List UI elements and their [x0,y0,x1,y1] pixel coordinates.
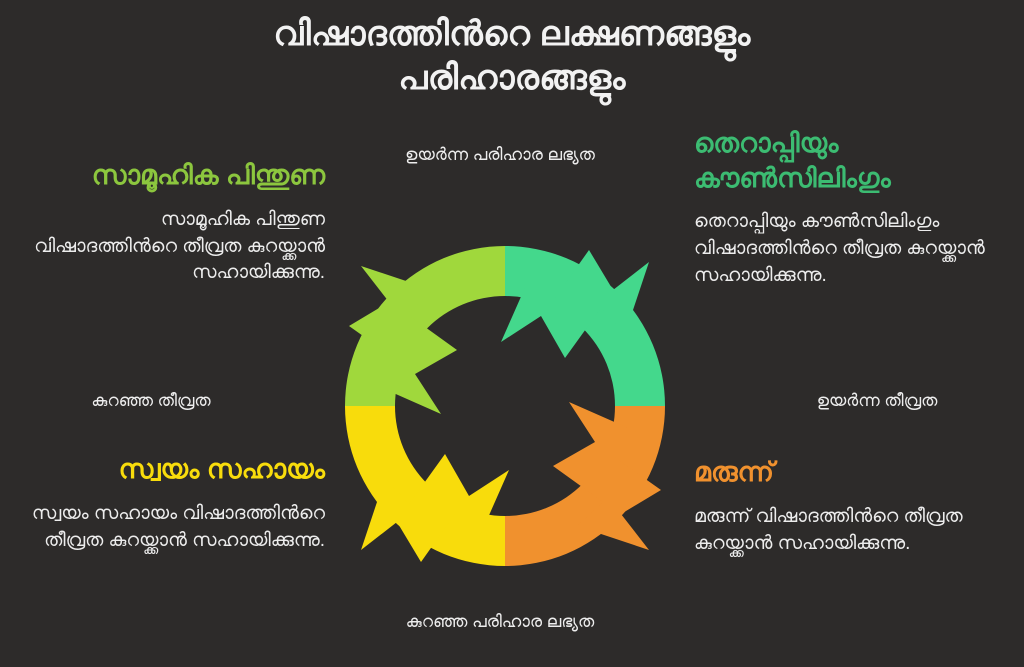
cycle-segment-community-support [345,246,505,414]
cycle-diagram-svg [337,238,673,574]
quadrant-community-support-heading: സാമൂഹിക പിന്തുണ [20,158,325,193]
axis-label-high-solution-availability: ഉയർന്ന പരിഹാര ലഭ്യത [372,143,628,168]
quadrant-community-support-body: സാമൂഹിക പിന്തുണ വിഷാദത്തിന്‍റെ തീവ്രത കു… [20,207,325,288]
quadrant-self-help: സ്വയം സഹായം സ്വയം സഹായം വിഷാദത്തിന്‍റെ ത… [20,452,325,554]
cycle-segment-therapy-counselling [501,246,665,406]
quadrant-therapy-counselling: തെറാപ്പിയും കൗൺസിലിംഗും തെറാപ്പിയും കൗൺസ… [694,126,1004,290]
axis-label-low-severity: കുറഞ്ഞ തീവ്രത [26,389,276,414]
quadrant-medication: മരുന്ന് മരുന്ന് വിഷാദത്തിന്‍റെ തീവ്രത കു… [694,455,1004,557]
quadrant-therapy-counselling-heading: തെറാപ്പിയും കൗൺസിലിംഗും [694,126,1004,195]
cycle-segment-medication [505,402,665,566]
page-title-line-1: വിഷാദത്തിന്‍റെ ലക്ഷണങ്ങളും [0,12,1024,56]
cycle-diagram [337,238,673,574]
page-title-line-2: പരിഹാരങ്ങളും [0,56,1024,100]
page-title: വിഷാദത്തിന്‍റെ ലക്ഷണങ്ങളും പരിഹാരങ്ങളും [0,12,1024,100]
quadrant-community-support: സാമൂഹിക പിന്തുണ സാമൂഹിക പിന്തുണ വിഷാദത്ത… [20,158,325,287]
quadrant-therapy-counselling-body: തെറാപ്പിയും കൗൺസിലിംഗും വിഷാദത്തിന്‍റെ ത… [694,209,1004,290]
axis-label-high-severity: ഉയർന്ന തീവ്രത [752,389,1002,414]
quadrant-medication-body: മരുന്ന് വിഷാദത്തിന്‍റെ തീവ്രത കുറയ്ക്കാൻ… [694,504,1004,558]
axis-label-low-solution-availability: കുറഞ്ഞ പരിഹാര ലഭ്യത [372,610,628,635]
quadrant-medication-heading: മരുന്ന് [694,455,1004,490]
quadrant-self-help-body: സ്വയം സഹായം വിഷാദത്തിന്‍റെ തീവ്രത കുറയ്ക… [20,501,325,555]
quadrant-self-help-heading: സ്വയം സഹായം [20,452,325,487]
cycle-segment-self-help [345,406,509,566]
